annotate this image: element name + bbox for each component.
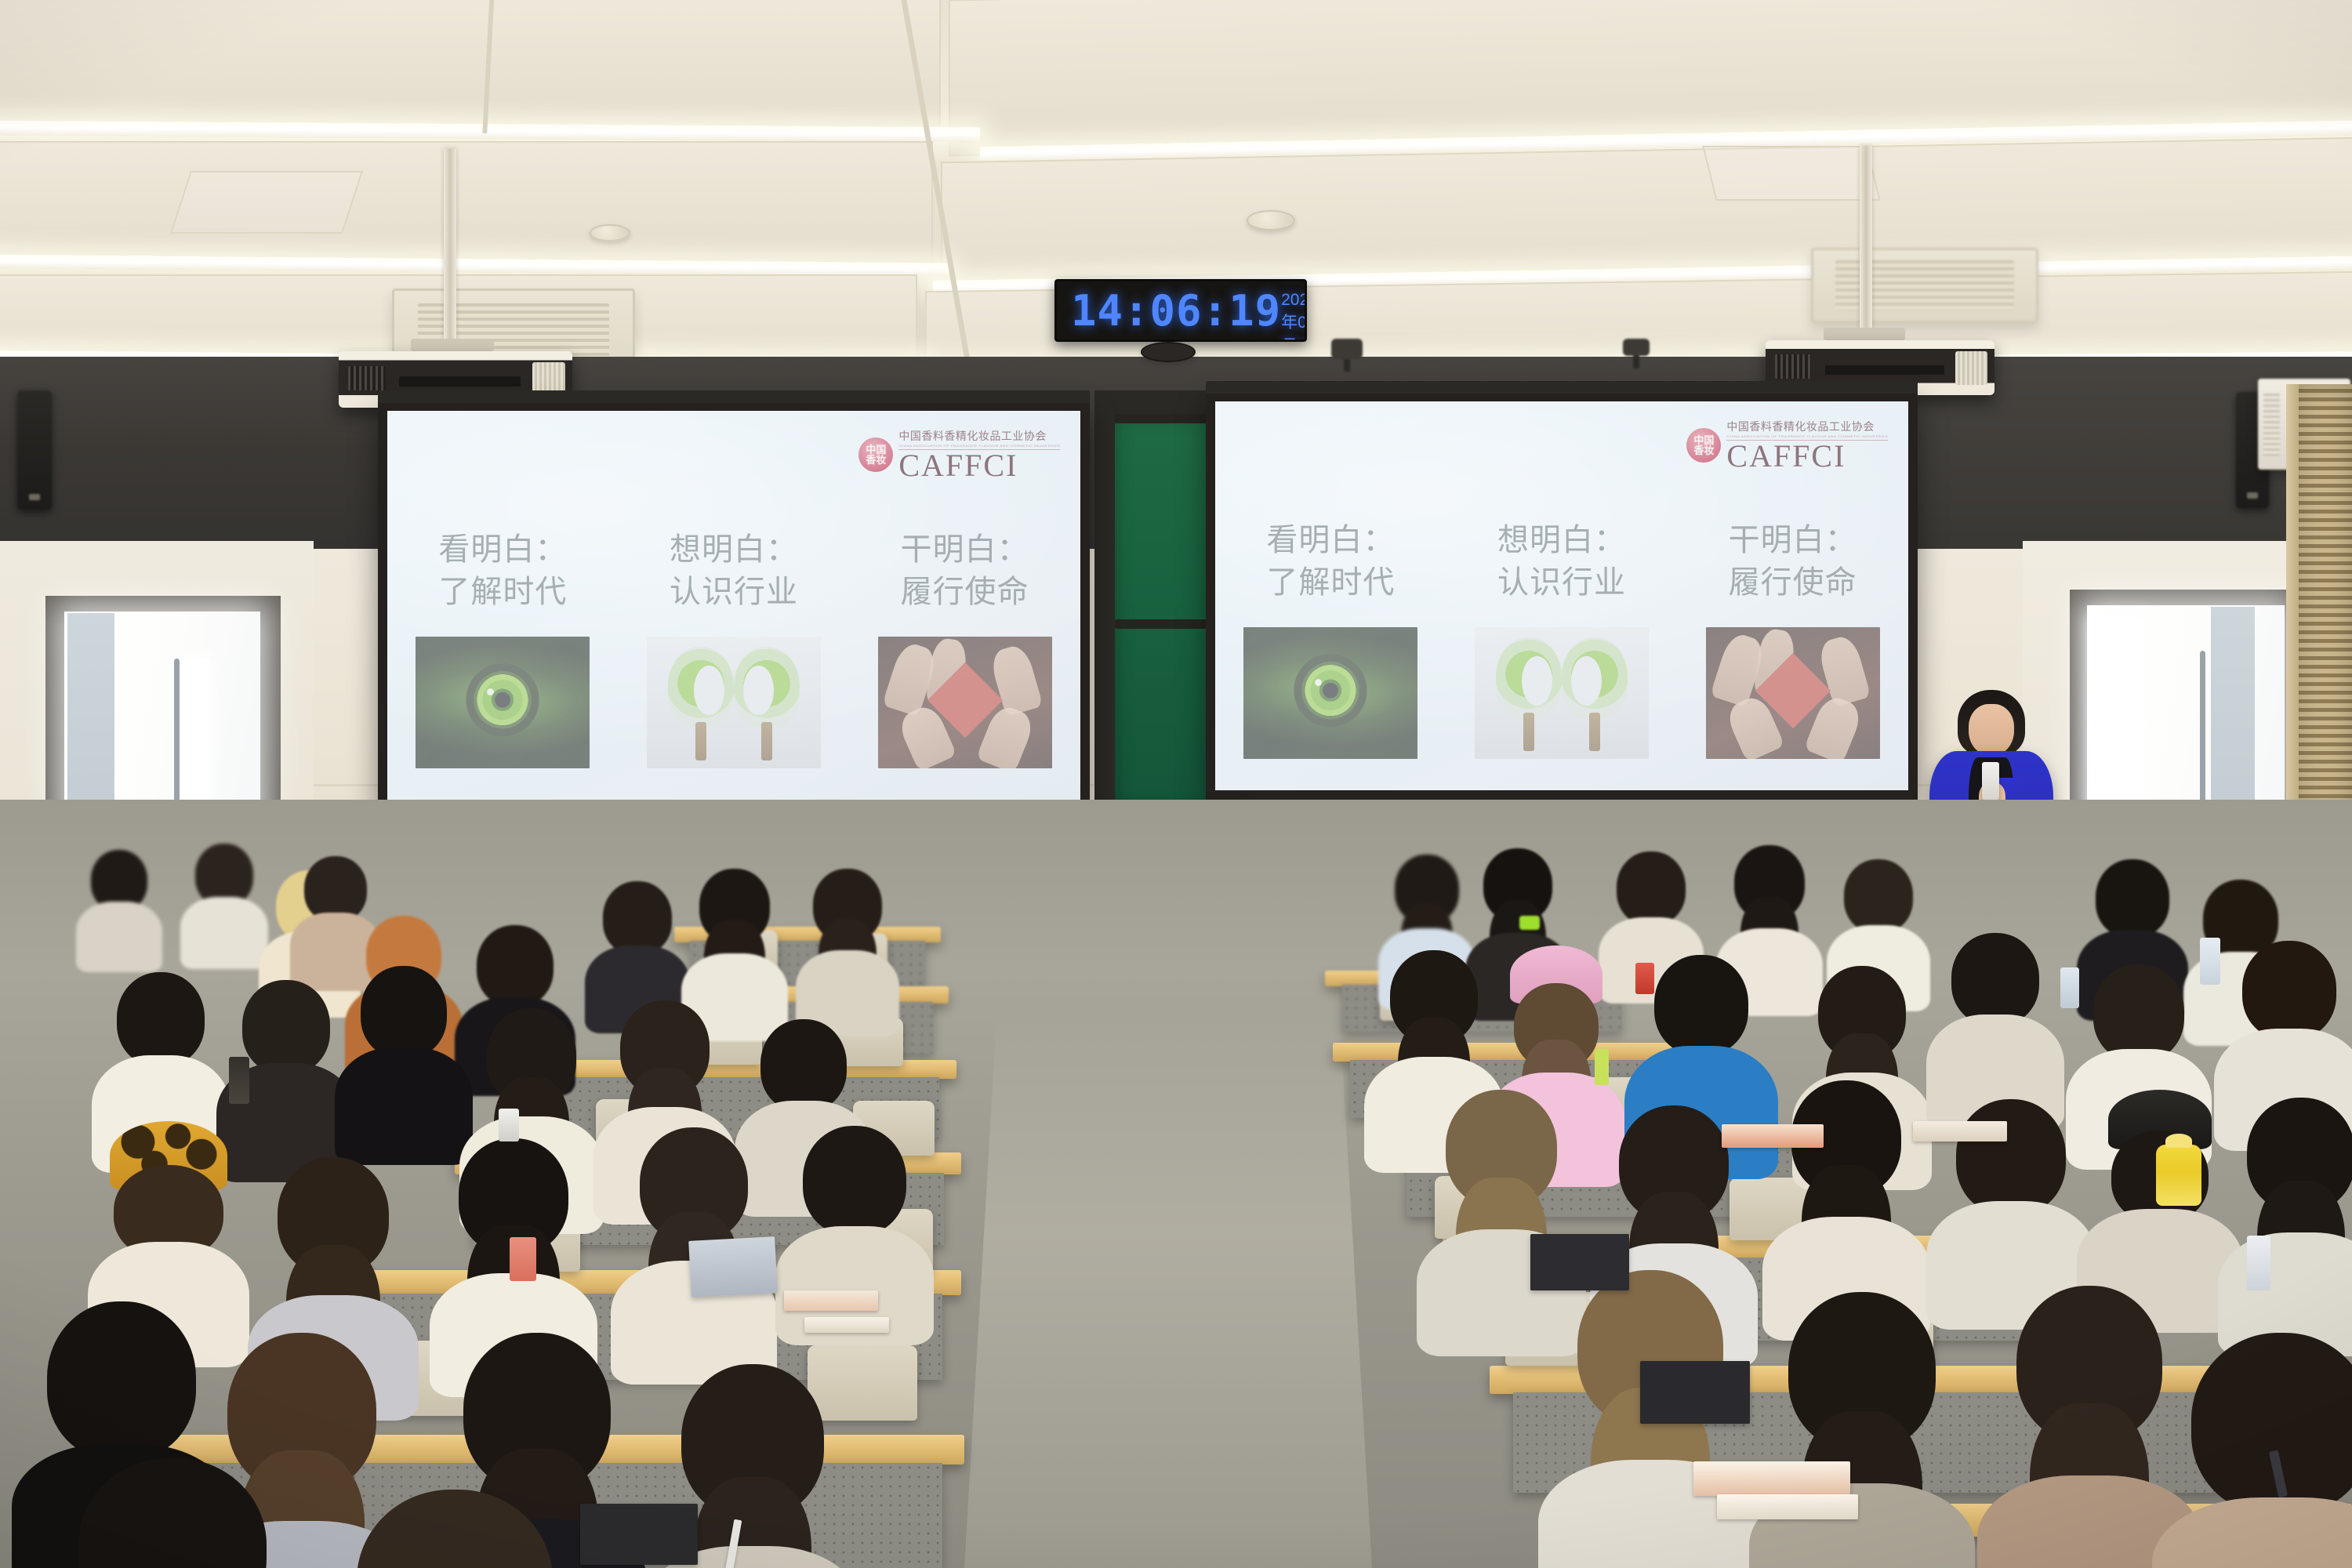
student (593, 881, 682, 1007)
association-name-en: CHINA ASSOCIATION OF FRAGRANCE FLAVOUR A… (1726, 435, 1888, 439)
slide-column: 干明白： 履行使命 (849, 528, 1080, 768)
tree-faces-image (1475, 627, 1649, 759)
red-cup (1635, 963, 1654, 994)
slide-left: 中国 香妆 中国香料香精化妆品工业协会 CHINA ASSOCIATION OF… (387, 411, 1080, 800)
student-foreground (47, 1458, 298, 1568)
badge-line-2: 香妆 (866, 455, 886, 465)
student-foreground (2164, 1333, 2352, 1568)
green-eye-image (416, 637, 590, 768)
column-subheading: 认识行业 (1497, 561, 1626, 604)
slide-column: 看明白： 了解时代 (1215, 519, 1446, 759)
clock-date: 2025年05月12日 (1281, 291, 1307, 343)
tablet[interactable] (1530, 1234, 1629, 1290)
water-bottle (229, 1057, 249, 1104)
column-subheading: 认识行业 (670, 571, 798, 613)
student (82, 850, 157, 952)
student (690, 869, 779, 1000)
wall-speaker-left (17, 390, 52, 510)
slide-column: 干明白： 履行使命 (1677, 519, 1908, 759)
hands-heart-image (878, 637, 1052, 768)
association-name-en: CHINA ASSOCIATION OF FRAGRANCE FLAVOUR A… (898, 445, 1060, 448)
projection-screen-left: 中国 香妆 中国香料香精化妆品工业协会 CHINA ASSOCIATION OF… (378, 401, 1090, 809)
student (345, 966, 463, 1138)
caffci-wordmark: CAFFCI (898, 451, 1060, 481)
student (804, 869, 891, 997)
ceiling-camera-right (1623, 339, 1650, 356)
projector-mount-pole-left (444, 149, 456, 354)
caffci-logo-right: 中国 香妆 中国香料香精化妆品工业协会 CHINA ASSOCIATION OF… (1686, 419, 1888, 471)
caffci-wordmark: CAFFCI (1726, 441, 1888, 471)
column-heading: 看明白： (1266, 519, 1395, 561)
student (1764, 1292, 1960, 1568)
ceiling-ac-cassette-right (1811, 248, 2038, 323)
center-aisle (964, 1011, 1372, 1568)
slide-column: 想明白： 认识行业 (1446, 519, 1678, 759)
drink-cup (499, 1109, 519, 1142)
handheld-microphone[interactable] (1982, 762, 1999, 800)
hands-heart-image (1706, 627, 1880, 759)
student (2227, 1098, 2352, 1333)
projection-screen-right: 中国 香妆 中国香料香精化妆品工业协会 CHINA ASSOCIATION OF… (1206, 392, 1918, 800)
clock-time: 14:06:19 (1071, 286, 1281, 336)
student (187, 844, 262, 946)
column-subheading: 了解时代 (1266, 561, 1395, 604)
column-subheading: 了解时代 (438, 571, 567, 613)
tree-faces-image (647, 637, 821, 768)
badge-line-2: 香妆 (1693, 445, 1714, 456)
student (102, 972, 220, 1145)
duck-thermos-lid (2165, 1134, 2192, 1148)
tablet[interactable] (1640, 1361, 1750, 1424)
column-heading: 干明白： (901, 528, 1029, 571)
column-subheading: 履行使命 (1729, 561, 1857, 604)
textbook (1913, 1121, 2007, 1142)
student (1936, 933, 2054, 1105)
green-hair-clip (1519, 916, 1540, 930)
student-foreground (329, 1490, 580, 1568)
student (1991, 1286, 2187, 1568)
textbook (1693, 1461, 1850, 1496)
water-bottle (2247, 1236, 2270, 1290)
presenter-face (1969, 704, 2014, 756)
textbook (784, 1290, 878, 1311)
projector-mount-pole-right (1860, 146, 1872, 342)
clock-weekday: 星期一 (1281, 279, 1307, 289)
textbook-open (1717, 1494, 1858, 1519)
notebook (804, 1317, 889, 1333)
slide-column: 想明白： 认识行业 (619, 528, 850, 768)
caffci-badge: 中国 香妆 (1686, 428, 1721, 463)
water-bottle (2200, 938, 2220, 985)
column-heading: 想明白： (1497, 519, 1626, 561)
student (1725, 845, 1814, 972)
ceiling-camera-center (1331, 339, 1363, 359)
duck-thermos (2156, 1145, 2201, 1206)
column-heading: 干明白： (1729, 519, 1857, 561)
laptop[interactable] (688, 1236, 778, 1298)
lecture-hall-photo: 14:06:19 星期一 2025年05月12日 (0, 0, 2352, 1568)
drink-cup-pink (510, 1237, 536, 1281)
badge-line-1: 中国 (1693, 435, 1714, 445)
water-bottle (2060, 967, 2079, 1008)
caffci-logo-left: 中国 香妆 中国香料香精化妆品工业协会 CHINA ASSOCIATION OF… (858, 428, 1060, 481)
tablet[interactable] (580, 1504, 698, 1565)
badge-line-1: 中国 (866, 445, 886, 455)
association-name-cn: 中国香料香精化妆品工业协会 (898, 428, 1060, 444)
student (1772, 1080, 1921, 1316)
column-heading: 想明白： (670, 528, 798, 571)
column-subheading: 履行使命 (901, 571, 1029, 613)
green-marker (1595, 1049, 1609, 1085)
green-eye-image (1243, 627, 1417, 759)
student-body (76, 902, 162, 972)
caffci-badge: 中国 香妆 (858, 437, 893, 472)
textbook (1722, 1124, 1824, 1148)
digital-wall-clock: 14:06:19 星期一 2025年05月12日 (1054, 279, 1307, 342)
column-heading: 看明白： (438, 528, 567, 571)
slide-right: 中国 香妆 中国香料香精化妆品工业协会 CHINA ASSOCIATION OF… (1215, 401, 1908, 790)
association-name-cn: 中国香料香精化妆品工业协会 (1726, 419, 1888, 434)
slide-column: 看明白： 了解时代 (387, 528, 619, 768)
